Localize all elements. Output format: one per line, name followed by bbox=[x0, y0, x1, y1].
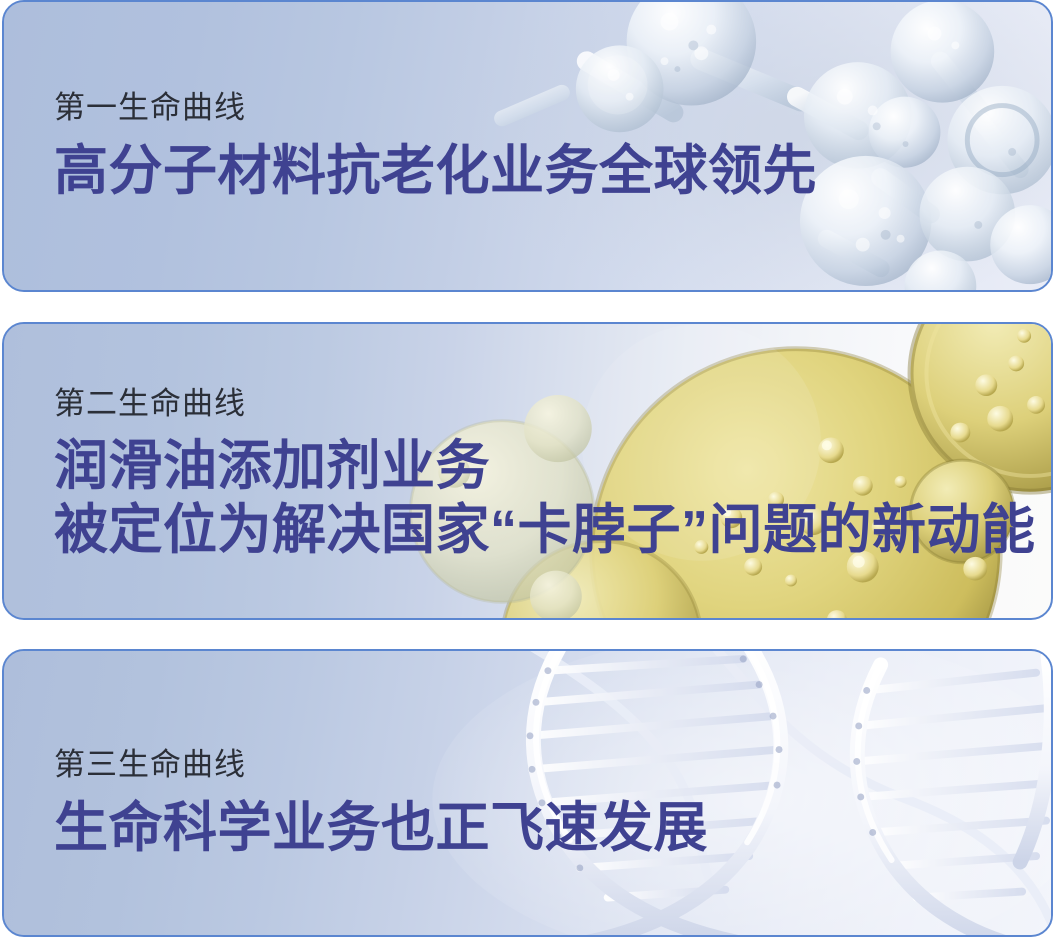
card-eyebrow: 第一生命曲线 bbox=[54, 90, 817, 126]
life-curves-board: 第一生命曲线 高分子材料抗老化业务全球领先 bbox=[0, 0, 1055, 937]
headline-line: 润滑油添加剂业务 bbox=[54, 435, 1036, 499]
card-eyebrow: 第三生命曲线 bbox=[54, 747, 708, 783]
headline-line: 生命科学业务也正飞速发展 bbox=[54, 797, 708, 861]
card-text-block: 第二生命曲线 润滑油添加剂业务 被定位为解决国家“卡脖子”问题的新动能 bbox=[54, 386, 1036, 563]
card-headline: 高分子材料抗老化业务全球领先 bbox=[54, 140, 817, 204]
headline-line: 被定位为解决国家“卡脖子”问题的新动能 bbox=[54, 499, 1036, 563]
headline-line: 高分子材料抗老化业务全球领先 bbox=[54, 140, 817, 204]
card-first-life-curve[interactable]: 第一生命曲线 高分子材料抗老化业务全球领先 bbox=[2, 0, 1053, 292]
card-text-block: 第一生命曲线 高分子材料抗老化业务全球领先 bbox=[54, 90, 817, 203]
card-eyebrow: 第二生命曲线 bbox=[54, 386, 1036, 422]
card-headline: 润滑油添加剂业务 被定位为解决国家“卡脖子”问题的新动能 bbox=[54, 435, 1036, 562]
card-second-life-curve[interactable]: 第二生命曲线 润滑油添加剂业务 被定位为解决国家“卡脖子”问题的新动能 bbox=[2, 322, 1053, 620]
card-third-life-curve[interactable]: 第三生命曲线 生命科学业务也正飞速发展 bbox=[2, 649, 1053, 937]
card-headline: 生命科学业务也正飞速发展 bbox=[54, 797, 708, 861]
card-text-block: 第三生命曲线 生命科学业务也正飞速发展 bbox=[54, 747, 708, 860]
